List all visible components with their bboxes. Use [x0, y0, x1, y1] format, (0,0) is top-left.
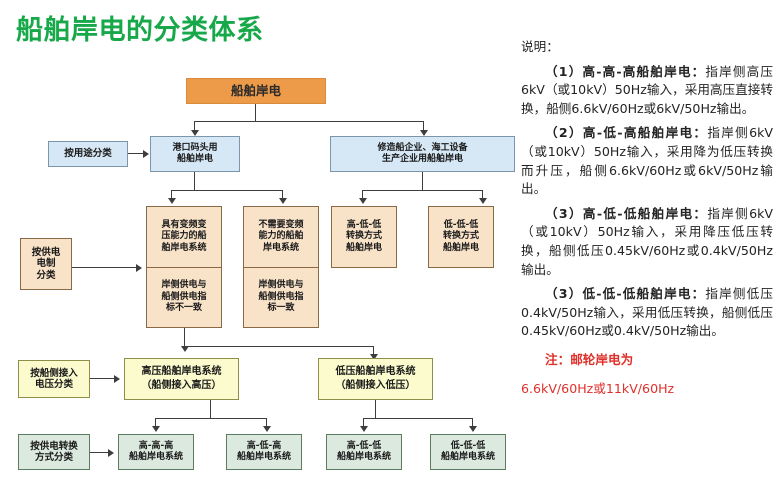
node-hll-system: 高-低-低 船舶岸电系统 — [326, 434, 402, 470]
arrow-l3-b — [279, 198, 287, 204]
arrow-conversion — [108, 449, 114, 457]
arrow-l5-c — [360, 426, 368, 432]
note-warning-body: 6.6kV/60Hz或11kV/60Hz — [521, 381, 674, 396]
label-by-purpose: 按用途分类 — [48, 141, 128, 167]
note-warning: 注：邮轮岸电为 — [521, 351, 773, 370]
node-no-var-freq: 不需要变频 能力的船舶 岸电系统 岸侧供电与 船侧供电指 标一致 — [243, 206, 319, 328]
node-var-freq-transformer-title: 具有变频变 压能力的船 舶岸电系统 — [147, 207, 221, 268]
arrow-l5-d — [469, 426, 477, 432]
arrow-purpose — [143, 150, 149, 158]
connector-l2left-stem — [194, 172, 195, 191]
note-item-1-head: （1）高-高-高船舶岸电： — [545, 64, 705, 79]
node-hhh-system: 高-高-高 船舶岸电系统 — [118, 434, 194, 470]
note-warning-head: 注：邮轮岸电为 — [545, 352, 633, 367]
node-no-var-freq-title: 不需要变频 能力的船舶 岸电系统 — [244, 207, 318, 268]
arrow-l3-a — [168, 198, 176, 204]
note-warning-body-line: 6.6kV/60Hz或11kV/60Hz — [521, 380, 773, 399]
notes-lead: 说明： — [521, 38, 773, 57]
connector-l4right-stem — [375, 400, 376, 419]
arrow-power-system — [136, 264, 142, 272]
connector-purpose-line — [128, 153, 144, 154]
node-shipyard-offshore: 修造船企业、海工设备 生产企业用船舶岸电 — [330, 136, 515, 172]
node-hv-shore-power: 高压船舶岸电系统 （船侧接入高压） — [124, 358, 239, 400]
node-port-terminal: 港口码头用 船舶岸电 — [150, 136, 240, 172]
node-low-low-low-conv: 低-低-低 转换方式 船舶岸电 — [428, 206, 494, 268]
diagram-canvas: 船舶岸电的分类体系 船舶岸电 港口码头用 船舶岸电 修造船企业、海工设备 生产企… — [0, 0, 781, 504]
note-item-4-head: （3）低-低-低船舶岸电： — [545, 286, 705, 301]
arrow-l4-left — [181, 346, 189, 352]
node-high-low-low-conv: 高-低-低 转换方式 船舶岸电 — [331, 206, 397, 268]
node-root: 船舶岸电 — [186, 78, 326, 104]
connector-conversion-line — [90, 452, 109, 453]
node-var-freq-transformer: 具有变频变 压能力的船 舶岸电系统 岸侧供电与 船侧供电指 标不一致 — [146, 206, 222, 328]
connector-l2right-bus — [362, 190, 483, 191]
note-item-3: （3）高-低-低船舶岸电：指岸侧6kV（或10kV）50Hz输入，采用降压低压转… — [521, 205, 773, 279]
connector-l4left-stem — [210, 400, 211, 419]
arrow-l3-d — [479, 198, 487, 204]
connector-root-bus — [194, 121, 424, 122]
arrow-ship-voltage — [114, 375, 120, 383]
connector-power-system-line — [72, 267, 136, 268]
node-lv-shore-power: 低压船舶岸电系统 （船侧接入低压） — [318, 358, 433, 400]
notes-panel: 说明： （1）高-高-高船舶岸电：指岸侧高压6kV（或10kV）50Hz输入，采… — [521, 38, 773, 404]
arrow-l5-b — [263, 426, 271, 432]
label-by-power-system: 按供电 电制 分类 — [20, 238, 72, 290]
label-by-conversion: 按供电转换 方式分类 — [18, 434, 90, 470]
label-by-ship-voltage: 按船侧接入 电压分类 — [18, 360, 90, 398]
note-item-3-head: （3）高-低-低船舶岸电： — [545, 206, 707, 221]
note-item-1: （1）高-高-高船舶岸电：指岸侧高压6kV（或10kV）50Hz输入，采用高压直… — [521, 63, 773, 119]
note-item-2-head: （2）高-低-高船舶岸电： — [545, 125, 707, 140]
node-no-var-freq-detail: 岸侧供电与 船侧供电指 标一致 — [244, 268, 318, 328]
node-lll-system: 低-低-低 船舶岸电系统 — [430, 434, 506, 470]
arrow-l5-a — [152, 426, 160, 432]
connector-l3-bus — [184, 346, 374, 347]
connector-ship-voltage-line — [90, 378, 115, 379]
connector-l2right-stem — [422, 172, 423, 191]
note-item-2: （2）高-低-高船舶岸电：指岸侧6kV（或10kV）50Hz输入，采用降为低压转… — [521, 124, 773, 198]
connector-l3-stem — [184, 328, 185, 347]
note-item-4: （3）低-低-低船舶岸电：指岸侧低压0.4kV/50Hz输入，采用低压转换，船侧… — [521, 285, 773, 341]
connector-root-stem — [255, 104, 256, 122]
page-title: 船舶岸电的分类体系 — [16, 8, 264, 47]
connector-l2left-bus — [171, 190, 283, 191]
node-var-freq-transformer-detail: 岸侧供电与 船侧供电指 标不一致 — [147, 268, 221, 328]
arrow-l3-c — [359, 198, 367, 204]
connector-l4left-bus — [155, 418, 267, 419]
node-hlh-system: 高-低-高 船舶岸电系统 — [226, 434, 302, 470]
connector-l4right-bus — [363, 418, 473, 419]
